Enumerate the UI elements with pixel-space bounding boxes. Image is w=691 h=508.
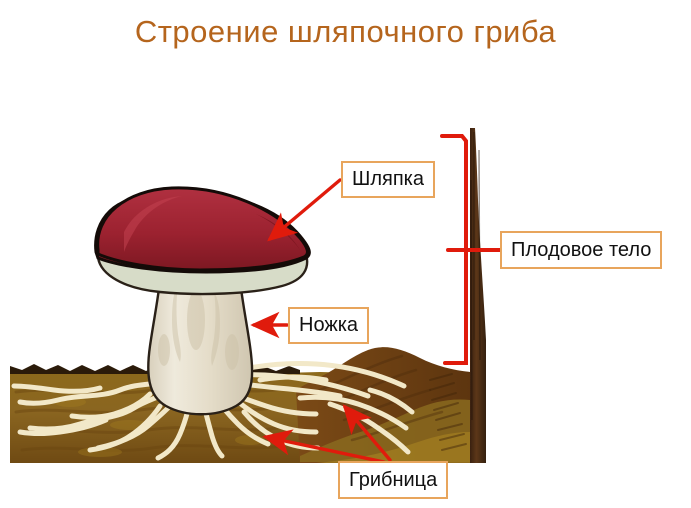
callout-cap[interactable]: Шляпка	[341, 161, 435, 198]
callout-fruiting-body[interactable]: Плодовое тело	[500, 231, 662, 269]
callout-stem-label: Ножка	[299, 314, 358, 337]
diagram-canvas: Строение шляпочного гриба	[0, 0, 691, 508]
callout-fruiting-body-label: Плодовое тело	[511, 239, 651, 262]
tree-trunk	[470, 128, 486, 463]
callout-stem[interactable]: Ножка	[288, 307, 369, 344]
callout-cap-label: Шляпка	[352, 168, 424, 191]
arrow-to-cap	[270, 180, 340, 239]
mushroom-cap	[96, 188, 310, 294]
callout-mycelium[interactable]: Грибница	[338, 461, 448, 499]
callout-mycelium-label: Грибница	[349, 469, 437, 492]
